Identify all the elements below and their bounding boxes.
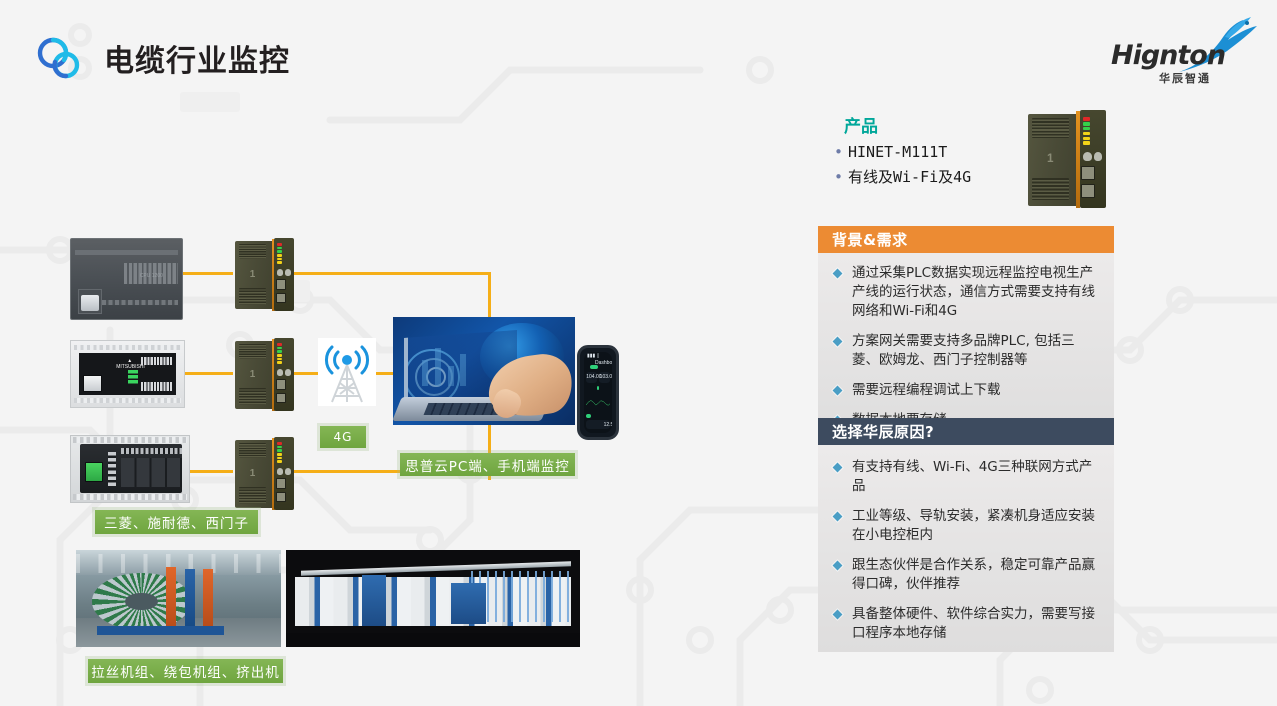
device-antenna-1 — [277, 468, 284, 475]
wire-tower-hero — [375, 372, 395, 375]
plc-terminal-strip — [121, 448, 182, 455]
bullet-text: 通过采集PLC数据实现远程监控电视生产产线的运行状态，通信方式需要支持有线网络和… — [852, 265, 1095, 319]
photo-beams — [76, 554, 281, 573]
plc-rail-top — [73, 437, 186, 442]
siemens-plc: CPU 1200 — [70, 238, 183, 320]
gateway-3: 1 — [228, 437, 294, 511]
label-plc-brands: 三菱、施耐德、西门子 — [95, 510, 258, 534]
device-rj45-port-1 — [276, 379, 287, 389]
bullet-diamond-icon — [833, 337, 843, 347]
device-antenna-1 — [277, 369, 284, 376]
bullet-item: 需要远程编程调试上下载 — [828, 381, 1100, 400]
4g-signal-tower-icon — [318, 338, 376, 406]
slide-header: 电缆行业监控 Hignton 华辰智通 — [0, 0, 1277, 104]
photo-blue-unit-2 — [451, 583, 486, 624]
bullet-text: 工业等级、导轨安装，紧凑机身适应安装在小电控柜内 — [852, 508, 1095, 543]
wire-gateway1-right — [286, 272, 491, 275]
panel-header-background: 背景&需求 — [818, 226, 1114, 253]
cloud-data-laptop-image — [393, 317, 575, 425]
bullet-item: 工业等级、导轨安装，紧凑机身适应安装在小电控柜内 — [828, 507, 1100, 545]
device-logo-glyph: 1 — [1047, 152, 1054, 165]
bullet-diamond-icon — [833, 512, 843, 522]
device-logo-glyph: 1 — [250, 468, 256, 479]
device-rj45-port-2 — [1081, 184, 1095, 198]
device-antenna-2 — [285, 369, 292, 376]
device-rj45-port-1 — [276, 279, 287, 289]
device-vents-top — [239, 443, 267, 458]
plc-rail-bottom — [74, 398, 180, 403]
bullet-diamond-icon — [833, 561, 843, 571]
device-rj45-port-2 — [276, 293, 287, 303]
device-vents-top — [239, 244, 267, 259]
gateway-1: 1 — [228, 238, 294, 312]
device-rj45-port-2 — [276, 492, 287, 502]
device-led-indicators — [277, 442, 282, 463]
device-vents-bottom — [239, 388, 267, 404]
device-vents-bottom — [1032, 178, 1069, 200]
plc-body: CPU 1200 — [70, 238, 183, 320]
bullet-text: 需要远程编程调试上下载 — [852, 382, 1001, 398]
extrusion-line-photo — [286, 550, 580, 647]
panel-body-background: 通过采集PLC数据实现远程监控电视生产产线的运行状态，通信方式需要支持有线网络和… — [818, 253, 1114, 439]
device-antenna-1 — [1083, 152, 1092, 161]
product-connectivity: 有线及Wi-Fi及4G — [834, 166, 971, 187]
wire-plc3-gateway — [190, 470, 233, 473]
gateway-2: 1 — [228, 338, 294, 412]
panel-header-why: 选择华辰原因? — [818, 418, 1114, 445]
phone-screen: ▮▮▮ ▯ Dashboard 104.00 103.00 12.50 — [584, 352, 612, 433]
bullet-item: 有支持有线、Wi-Fi、4G三种联网方式产品 — [828, 458, 1100, 496]
photo-blue-unit-1 — [362, 575, 386, 625]
device-led-indicators — [1083, 117, 1090, 145]
device-rj45-port-2 — [276, 393, 287, 403]
panel-why-hignton: 选择华辰原因? 有支持有线、Wi-Fi、4G三种联网方式产品 工业等级、导轨安装… — [818, 418, 1114, 652]
schneider-plc — [70, 435, 190, 503]
plc-lower-strip — [95, 300, 177, 306]
plc-leds — [128, 370, 138, 385]
phone-status-pill — [590, 365, 598, 369]
phone-metric-value-2: 103.00 — [600, 374, 612, 380]
brand-logo: Hignton 华辰智通 — [1111, 14, 1259, 90]
bullet-item: 方案网关需要支持多品牌PLC, 包括三菱、欧姆龙、西门子控制器等 — [828, 332, 1100, 370]
bullet-text: 具备整体硬件、软件综合实力，需要写接口程序本地存储 — [852, 606, 1095, 641]
bullet-item: 具备整体硬件、软件综合实力，需要写接口程序本地存储 — [828, 605, 1100, 643]
wire-plc2-gateway — [183, 372, 233, 375]
bullet-text: 有支持有线、Wi-Fi、4G三种联网方式产品 — [852, 459, 1092, 494]
page-title: 电缆行业监控 — [104, 36, 290, 80]
bullet-diamond-icon — [833, 463, 843, 473]
photo-column-orange-2 — [203, 569, 213, 625]
bullet-diamond-icon — [833, 610, 843, 620]
device-rj45-port-1 — [276, 478, 287, 488]
mobile-monitoring-app: ▮▮▮ ▯ Dashboard 104.00 103.00 12.50 — [577, 345, 619, 440]
phone-toggle-dot — [597, 386, 599, 390]
cable-drum-factory-photo — [76, 550, 281, 647]
label-cloud-monitoring: 思普云PC端、手机端监控 — [400, 453, 575, 476]
device-antenna-2 — [285, 468, 292, 475]
wire-plc1-gateway — [183, 272, 233, 275]
photo-cage-frame — [471, 571, 571, 621]
phone-control-pill — [586, 414, 591, 418]
plc-body: ▲MITSUBISHI — [70, 340, 185, 408]
device-vents-bottom — [239, 288, 267, 304]
photo-floor — [286, 633, 580, 647]
bullet-text: 跟生态伙伴是合作关系，稳定可靠产品赢得口碑，伙伴推荐 — [852, 557, 1095, 592]
photo-machine-base — [97, 626, 224, 636]
label-machines: 拉丝机组、绕包机组、挤出机 — [88, 659, 283, 683]
plc-rail-top — [74, 345, 180, 350]
plc-terminals-top — [141, 357, 173, 365]
plc-rj45-port — [85, 462, 103, 482]
phone-footer-value: 12.50 — [604, 422, 612, 428]
device-led-indicators — [277, 343, 282, 364]
plc-cpu-text: CPU 1200 — [140, 273, 163, 279]
plc-body — [70, 435, 190, 503]
device-led-indicators — [277, 243, 282, 264]
device-logo-glyph: 1 — [250, 269, 256, 280]
photo-column-blue — [185, 569, 195, 627]
photo-drum-hub — [125, 593, 158, 610]
4g-signal-tower — [318, 338, 376, 406]
brand-subtitle: 华辰智通 — [1139, 70, 1231, 86]
plc-slot-dividers — [121, 458, 182, 487]
device-rj45-port-1 — [1081, 166, 1095, 180]
plc-rail-bottom — [73, 494, 186, 500]
bullet-item: 通过采集PLC数据实现远程监控电视生产产线的运行状态，通信方式需要支持有线网络和… — [828, 264, 1100, 321]
phone-statusbar: ▮▮▮ ▯ — [587, 353, 599, 359]
label-4g: 4G — [320, 426, 366, 448]
device-antenna-1 — [277, 269, 284, 276]
plc-rj45-port — [83, 375, 101, 392]
plc-db9-connector — [81, 295, 99, 311]
photo-column-orange-1 — [166, 567, 176, 627]
device-vents-top — [239, 344, 267, 359]
hinet-gateway-device: 1 — [1018, 110, 1106, 210]
phone-waveform-chart — [586, 394, 611, 412]
brand-name: Hignton — [1111, 42, 1231, 69]
panel-background-requirements: 背景&需求 通过采集PLC数据实现远程监控电视生产产线的运行状态，通信方式需要支… — [818, 226, 1114, 439]
bullet-item: 跟生态伙伴是合作关系，稳定可靠产品赢得口碑，伙伴推荐 — [828, 556, 1100, 594]
device-vents-bottom — [239, 487, 267, 503]
plc-brand-mark: ▲MITSUBISHI — [116, 358, 143, 370]
bullet-diamond-icon — [833, 386, 843, 396]
mitsubishi-plc: ▲MITSUBISHI — [70, 340, 185, 408]
plc-terminals-bottom — [141, 382, 173, 391]
interlocking-circles-logo — [33, 33, 85, 85]
plc-led-column — [108, 452, 116, 486]
device-vents-top — [1032, 118, 1069, 138]
device-antenna-2 — [285, 269, 292, 276]
product-model: HINET-M111T — [834, 143, 947, 161]
device-antenna-2 — [1094, 152, 1103, 161]
device-logo-glyph: 1 — [250, 369, 256, 380]
bullet-text: 方案网关需要支持多品牌PLC, 包括三菱、欧姆龙、西门子控制器等 — [852, 333, 1075, 368]
product-title: 产品 — [844, 112, 878, 137]
bullet-diamond-icon — [833, 269, 843, 279]
plc-top-slot — [75, 250, 177, 255]
panel-body-why: 有支持有线、Wi-Fi、4G三种联网方式产品 工业等级、导轨安装，紧凑机身适应安… — [818, 445, 1114, 652]
